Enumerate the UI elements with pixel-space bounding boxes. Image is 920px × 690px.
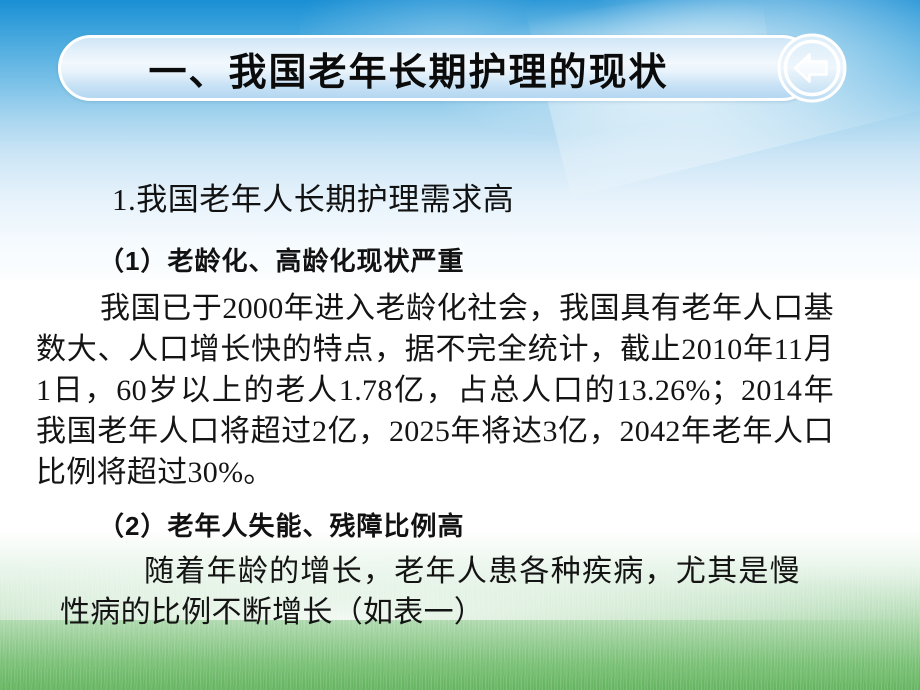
content-subheading-1: （1）老龄化、高龄化现状严重 [98, 242, 920, 280]
content-paragraph-2: 随着年龄的增长，老年人患各种疾病，尤其是慢性病的比例不断增长（如表一） [0, 551, 920, 633]
content-heading-1: 1.我国老年人长期护理需求高 [112, 178, 920, 222]
presentation-slide: 一、我国老年长期护理的现状 1.我国老年人长期护理需求高 （1）老龄化、高龄 [0, 0, 920, 690]
back-button[interactable] [776, 32, 848, 104]
back-arrow-icon [776, 32, 848, 104]
content-paragraph-1: 我国已于2000年进入老龄化社会，我国具有老年人口基数大、人口增长快的特点，据不… [0, 288, 920, 493]
slide-title: 一、我国老年长期护理的现状 [58, 35, 815, 101]
content-subheading-2: （2）老年人失能、残障比例高 [98, 507, 920, 545]
slide-content: 1.我国老年人长期护理需求高 （1）老龄化、高龄化现状严重 我国已于2000年进… [0, 178, 920, 633]
